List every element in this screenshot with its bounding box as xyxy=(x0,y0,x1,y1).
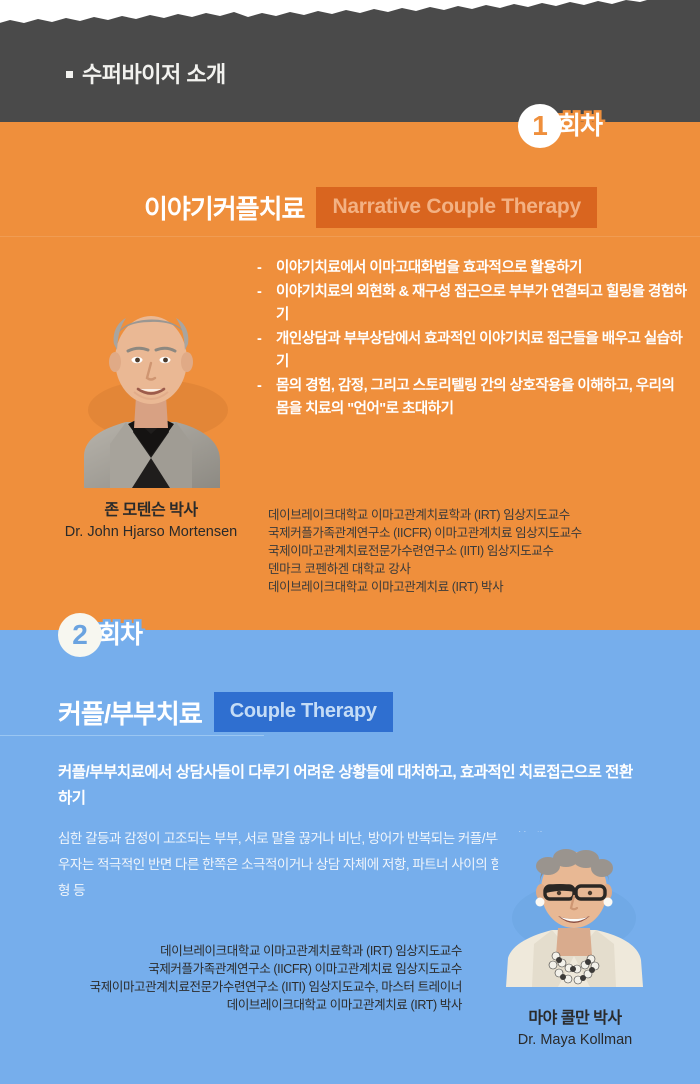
session-1-number: 1 xyxy=(518,104,562,148)
section-1-bullet-list: - 이야기치료에서 이마고대화법을 효과적으로 활용하기 - 이야기치료의 외현… xyxy=(257,257,687,422)
credential-line: 국제이마고관계치료전문가수련연구소 (IITI) 임상지도교수 xyxy=(268,542,582,560)
presenter-1-name-block: 존 모텐슨 박사 Dr. John Hjarso Mortensen xyxy=(36,500,266,542)
section-1-title-row: 이야기커플치료Narrative Couple Therapy xyxy=(144,187,597,228)
section-2-title-row: 커플/부부치료Couple Therapy xyxy=(58,692,393,732)
credential-line: 데이브레이크대학교 이마고관계치료학과 (IRT) 임상지도교수 xyxy=(268,506,582,524)
dash-icon: - xyxy=(257,375,276,398)
section-2-title-ko: 커플/부부치료 xyxy=(58,694,202,731)
section-1-title-en: Narrative Couple Therapy xyxy=(316,187,596,228)
list-item: - 개인상담과 부부상담에서 효과적인 이야기치료 접근들을 배우고 실습하기 xyxy=(257,328,687,374)
section-2-title-en: Couple Therapy xyxy=(214,692,393,732)
list-item: - 이야기치료에서 이마고대화법을 효과적으로 활용하기 xyxy=(257,257,687,280)
session-2-badge: 2회차 xyxy=(58,613,142,657)
page-title-text: 수퍼바이저 소개 xyxy=(82,62,226,87)
credential-line: 국제커플가족관계연구소 (IICFR) 이마고관계치료 임상지도교수 xyxy=(12,960,462,978)
section-2-lead-text: 커플/부부치료에서 상담사들이 다루기 어려운 상황들에 대처하고, 효과적인 … xyxy=(58,760,638,812)
list-item-text: 이야기치료에서 이마고대화법을 효과적으로 활용하기 xyxy=(276,257,687,280)
poster-page: 수퍼바이저 소개 1회차 이야기커플치료Narrative Couple The… xyxy=(0,0,700,1084)
session-1-word: 회차 xyxy=(558,114,602,139)
section-2-description: 심한 갈등과 감정이 고조되는 부부, 서로 말을 끊거나 비난, 방어가 반복… xyxy=(58,826,548,904)
session-2-word: 회차 xyxy=(98,623,142,648)
credential-line: 데이브레이크대학교 이마고관계치료 (IRT) 박사 xyxy=(268,578,582,596)
list-item-text: 몸의 경험, 감정, 그리고 스토리텔링 간의 상호작용을 이해하고, 우리의 … xyxy=(276,375,687,421)
presenter-1-name-en: Dr. John Hjarso Mortensen xyxy=(36,522,266,542)
credential-line: 국제커플가족관계연구소 (IICFR) 이마고관계치료 임상지도교수 xyxy=(268,524,582,542)
presenter-1-name-ko: 존 모텐슨 박사 xyxy=(36,500,266,522)
list-item: - 몸의 경험, 감정, 그리고 스토리텔링 간의 상호작용을 이해하고, 우리… xyxy=(257,375,687,421)
dash-icon: - xyxy=(257,281,276,304)
dash-icon: - xyxy=(257,328,276,351)
list-item-text: 이야기치료의 외현화 & 재구성 접근으로 부부가 연결되고 힐링을 경험하기 xyxy=(276,281,687,327)
session-2-number: 2 xyxy=(58,613,102,657)
torn-paper-edge-icon xyxy=(0,0,700,26)
presenter-2-name-block: 마야 콜만 박사 Dr. Maya Kollman xyxy=(470,1008,680,1050)
presenter-1-photo xyxy=(66,288,236,488)
credential-line: 국제이마고관계치료전문가수련연구소 (IITI) 임상지도교수, 마스터 트레이… xyxy=(12,978,462,996)
section-2-divider xyxy=(0,735,264,736)
page-title: 수퍼바이저 소개 xyxy=(66,57,226,89)
square-bullet-icon xyxy=(66,71,73,78)
list-item-text: 개인상담과 부부상담에서 효과적인 이야기치료 접근들을 배우고 실습하기 xyxy=(276,328,687,374)
presenter-1-credentials: 데이브레이크대학교 이마고관계치료학과 (IRT) 임상지도교수 국제커플가족관… xyxy=(268,506,582,596)
presenter-2-name-ko: 마야 콜만 박사 xyxy=(470,1008,680,1030)
presenter-2-credentials: 데이브레이크대학교 이마고관계치료학과 (IRT) 임상지도교수 국제커플가족관… xyxy=(12,942,462,1014)
section-1-divider xyxy=(0,236,700,237)
section-1-title-ko: 이야기커플치료 xyxy=(144,189,304,226)
credential-line: 데이브레이크대학교 이마고관계치료학과 (IRT) 임상지도교수 xyxy=(12,942,462,960)
dash-icon: - xyxy=(257,257,276,280)
credential-line: 데이브레이크대학교 이마고관계치료 (IRT) 박사 xyxy=(12,996,462,1014)
list-item: - 이야기치료의 외현화 & 재구성 접근으로 부부가 연결되고 힐링을 경험하… xyxy=(257,281,687,327)
presenter-2-name-en: Dr. Maya Kollman xyxy=(470,1030,680,1050)
session-1-badge: 1회차 xyxy=(518,104,602,148)
credential-line: 덴마크 코펜하겐 대학교 강사 xyxy=(268,560,582,578)
presenter-2-photo xyxy=(498,832,650,987)
